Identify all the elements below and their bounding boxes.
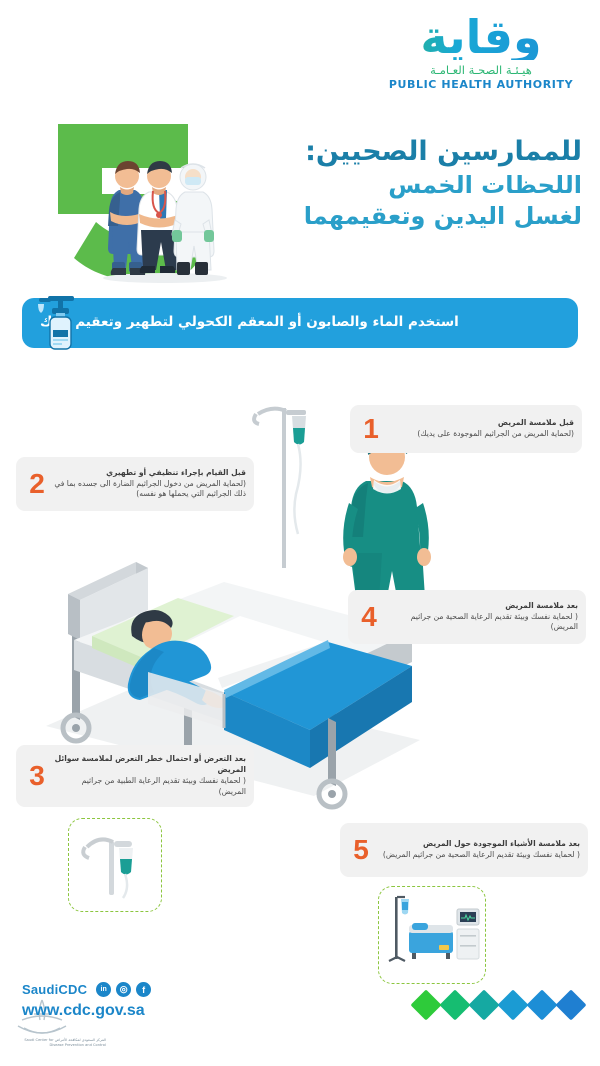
page-title: للممارسين الصحيين: اللحظات الخمس لغسل ال… [222, 134, 582, 233]
step-4-title: بعد ملامسة المريض [386, 601, 578, 612]
linkedin-icon[interactable]: in [96, 982, 111, 997]
logo-arabic-wordmark: وقاية [376, 14, 586, 60]
title-line-1: للممارسين الصحيين: [222, 134, 582, 170]
diamond-5 [439, 989, 470, 1020]
social-handle: SaudiCDC [22, 982, 87, 997]
diamond-4 [468, 989, 499, 1020]
step-5-detail: ( لحماية نفسك وبيئة تقديم الرعاية الصحية… [378, 850, 580, 861]
banner-text: استخدم الماء والصابون أو المعقم الكحولي … [40, 314, 459, 332]
step-1-title: قبل ملامسة المريض [388, 418, 574, 429]
step-card-1: قبل ملامسة المريض (لحماية المريض من الجر… [350, 405, 582, 453]
iv-drip-stand-icon [69, 819, 161, 911]
doctor-figure [137, 161, 180, 273]
step-card-4: بعد ملامسة المريض ( لحماية نفسك وبيئة تق… [348, 590, 586, 644]
infographic-canvas: وقاية هيـئـة الصحـة العـامـة PUBLIC HEAL… [0, 0, 600, 1066]
hero-section: للممارسين الصحيين: اللحظات الخمس لغسل ال… [0, 112, 600, 290]
step-card-5: بعد ملامسة الأشياء الموجودة حول المريض (… [340, 823, 588, 877]
diamond-3 [497, 989, 528, 1020]
footer: f ◎ in SaudiCDC www.cdc.gov.sa المركز ال… [0, 966, 600, 1066]
title-line-2: اللحظات الخمس [222, 170, 582, 202]
step-1-text: قبل ملامسة المريض (لحماية المريض من الجر… [382, 418, 574, 440]
iv-drip-icon-box [68, 818, 162, 912]
public-health-authority-logo: وقاية هيـئـة الصحـة العـامـة PUBLIC HEAL… [376, 14, 586, 91]
step-2-number: 2 [26, 470, 48, 498]
step-4-detail: ( لحماية نفسك وبيئة تقديم الرعاية الصحية… [386, 612, 578, 634]
website-link[interactable]: www.cdc.gov.sa [22, 1002, 145, 1020]
soap-dispenser-faucet-icon [22, 290, 84, 354]
diamond-1 [555, 989, 586, 1020]
instagram-icon[interactable]: ◎ [116, 982, 131, 997]
step-5-title: بعد ملامسة الأشياء الموجودة حول المريض [378, 839, 580, 850]
title-line-3: لغسل اليدين وتعقيمهما [222, 201, 582, 233]
logo-english-subtitle: PUBLIC HEALTH AUTHORITY [376, 78, 586, 91]
diamond-decoration-row [415, 994, 582, 1016]
instruction-banner: استخدم الماء والصابون أو المعقم الكحولي … [22, 298, 578, 348]
step-4-number: 4 [358, 603, 380, 631]
healthcare-workers-illustration [95, 134, 235, 284]
facebook-icon[interactable]: f [136, 982, 151, 997]
watermark-caption: المركز السعودي لمكافحة الأمراض Saudi Cen… [16, 1038, 106, 1049]
ppe-worker-figure [172, 164, 214, 275]
step-1-number: 1 [360, 415, 382, 443]
step-3-text: بعد التعرض أو احتمال خطر التعرض لملامسة … [48, 754, 246, 797]
step-card-2: قبل القيام بإجراء تنظيفي أو تطهيري (لحما… [16, 457, 254, 511]
logo-arabic-subtitle: هيـئـة الصحـة العـامـة [376, 63, 586, 77]
step-3-number: 3 [26, 762, 48, 790]
diamond-6 [410, 989, 441, 1020]
step-2-title: قبل القيام بإجراء تنظيفي أو تطهيري [54, 468, 246, 479]
step-1-detail: (لحماية المريض من الجراثيم الموجودة على … [388, 429, 574, 440]
step-2-text: قبل القيام بإجراء تنظيفي أو تطهيري (لحما… [48, 468, 246, 500]
diamond-2 [526, 989, 557, 1020]
social-links[interactable]: f ◎ in SaudiCDC [22, 982, 151, 997]
step-5-number: 5 [350, 836, 372, 864]
step-4-text: بعد ملامسة المريض ( لحماية نفسك وبيئة تق… [380, 601, 578, 633]
step-3-title: بعد التعرض أو احتمال خطر التعرض لملامسة … [54, 754, 246, 776]
step-2-detail: (لحماية المريض من دخول الجراثيم الضارة ا… [54, 479, 246, 501]
step-3-detail: ( لحماية نفسك وبيئة تقديم الرعاية الطبية… [54, 776, 246, 798]
step-card-3: بعد التعرض أو احتمال خطر التعرض لملامسة … [16, 745, 254, 807]
step-5-text: بعد ملامسة الأشياء الموجودة حول المريض (… [372, 839, 580, 861]
